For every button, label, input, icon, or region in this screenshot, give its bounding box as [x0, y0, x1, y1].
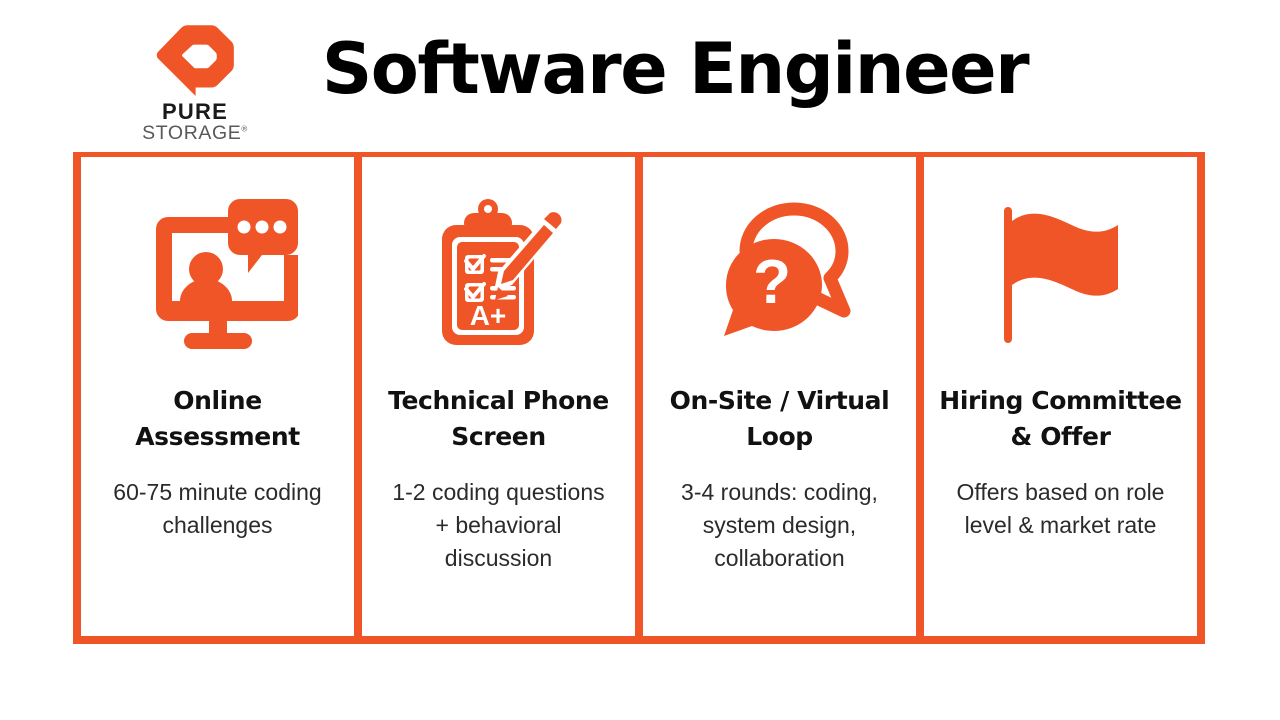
slide-canvas: PURE STORAGE® Software Engineer: [0, 0, 1280, 720]
process-step-title: Technical Phone Screen: [370, 383, 627, 454]
process-steps-row: Online Assessment 60-75 minute coding ch…: [73, 152, 1205, 644]
logo-text-storage-word: STORAGE: [142, 122, 241, 144]
process-step-body: 3-4 rounds: coding, system design, colla…: [666, 476, 894, 575]
process-step-card-hiring-committee-offer: Hiring Committee & Offer Offers based on…: [916, 157, 1205, 636]
process-step-body: 60-75 minute coding challenges: [104, 476, 332, 542]
clipboard-checklist-pencil-icon: A+: [424, 195, 574, 355]
question-speech-bubbles-icon: ?: [694, 195, 866, 355]
waving-flag-icon: [986, 195, 1136, 355]
monitor-person-chat-icon: [138, 195, 298, 355]
pure-storage-logo: PURE STORAGE®: [143, 25, 247, 143]
process-step-title: Online Assessment: [89, 383, 346, 454]
svg-text:A+: A+: [469, 300, 506, 331]
process-step-body: 1-2 coding questions + behavioral discus…: [385, 476, 613, 575]
pure-storage-logo-mark: [155, 25, 235, 97]
process-step-card-onsite-virtual-loop: ? On-Site / Virtual Loop 3-4 rounds: cod…: [635, 157, 916, 636]
svg-text:?: ?: [753, 248, 791, 317]
process-step-card-online-assessment: Online Assessment 60-75 minute coding ch…: [73, 157, 354, 636]
process-step-title: Hiring Committee & Offer: [932, 383, 1189, 454]
registered-trademark-icon: ®: [241, 124, 248, 133]
pure-storage-wordmark: PURE STORAGE®: [142, 101, 248, 144]
process-step-title: On-Site / Virtual Loop: [651, 383, 908, 454]
process-step-card-technical-phone-screen: A+ Technical Phone Screen 1-2 coding que…: [354, 157, 635, 636]
logo-text-storage: STORAGE®: [142, 124, 248, 144]
logo-text-pure: PURE: [142, 101, 248, 123]
slide-header: PURE STORAGE® Software Engineer: [0, 0, 1280, 150]
page-title: Software Engineer: [280, 34, 1070, 104]
process-step-body: Offers based on role level & market rate: [947, 476, 1175, 542]
